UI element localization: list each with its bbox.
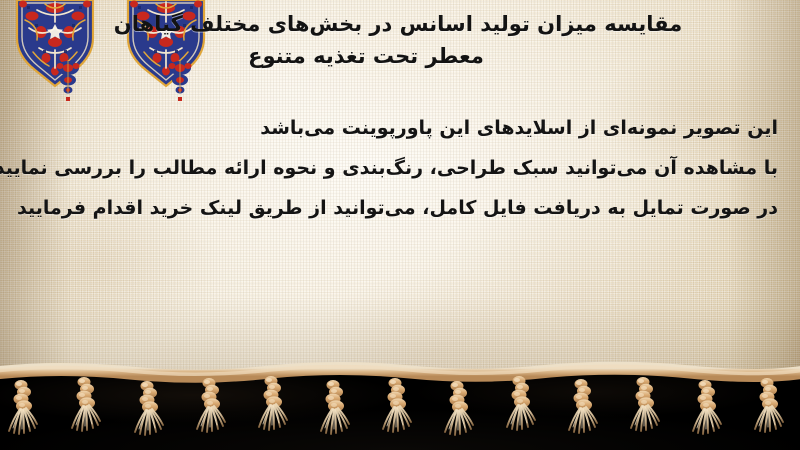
fringe-tassels-svg	[0, 360, 800, 450]
tassel-3	[135, 375, 163, 435]
body-line-2: با مشاهده آن می‌توانید سبک طراحی، رنگ‌بن…	[18, 148, 778, 188]
tassel-7	[383, 372, 411, 432]
slide-text-layer: مقایسه میزان تولید اسانس در بخش‌های مختل…	[0, 0, 800, 380]
tassel-12	[693, 374, 721, 434]
title-line-2: معطر تحت تغذیه متنوع	[18, 40, 778, 72]
slide-title: مقایسه میزان تولید اسانس در بخش‌های مختل…	[18, 8, 778, 72]
tassel-8	[445, 375, 473, 435]
body-line-1: این تصویر نمونه‌ای از اسلایدهای این پاور…	[18, 108, 778, 148]
title-line-1: مقایسه میزان تولید اسانس در بخش‌های مختل…	[18, 8, 778, 40]
tassel-1	[9, 374, 37, 434]
slide-body: این تصویر نمونه‌ای از اسلایدهای این پاور…	[18, 108, 778, 228]
body-line-3: در صورت تمایل به دریافت فایل کامل، می‌تو…	[18, 188, 778, 228]
slide-canvas: مقایسه میزان تولید اسانس در بخش‌های مختل…	[0, 0, 800, 450]
tassel-11	[631, 371, 659, 431]
tassel-2	[72, 371, 100, 431]
carpet-fringe	[0, 360, 800, 450]
tassel-6	[321, 374, 349, 434]
tassel-10	[569, 373, 597, 433]
